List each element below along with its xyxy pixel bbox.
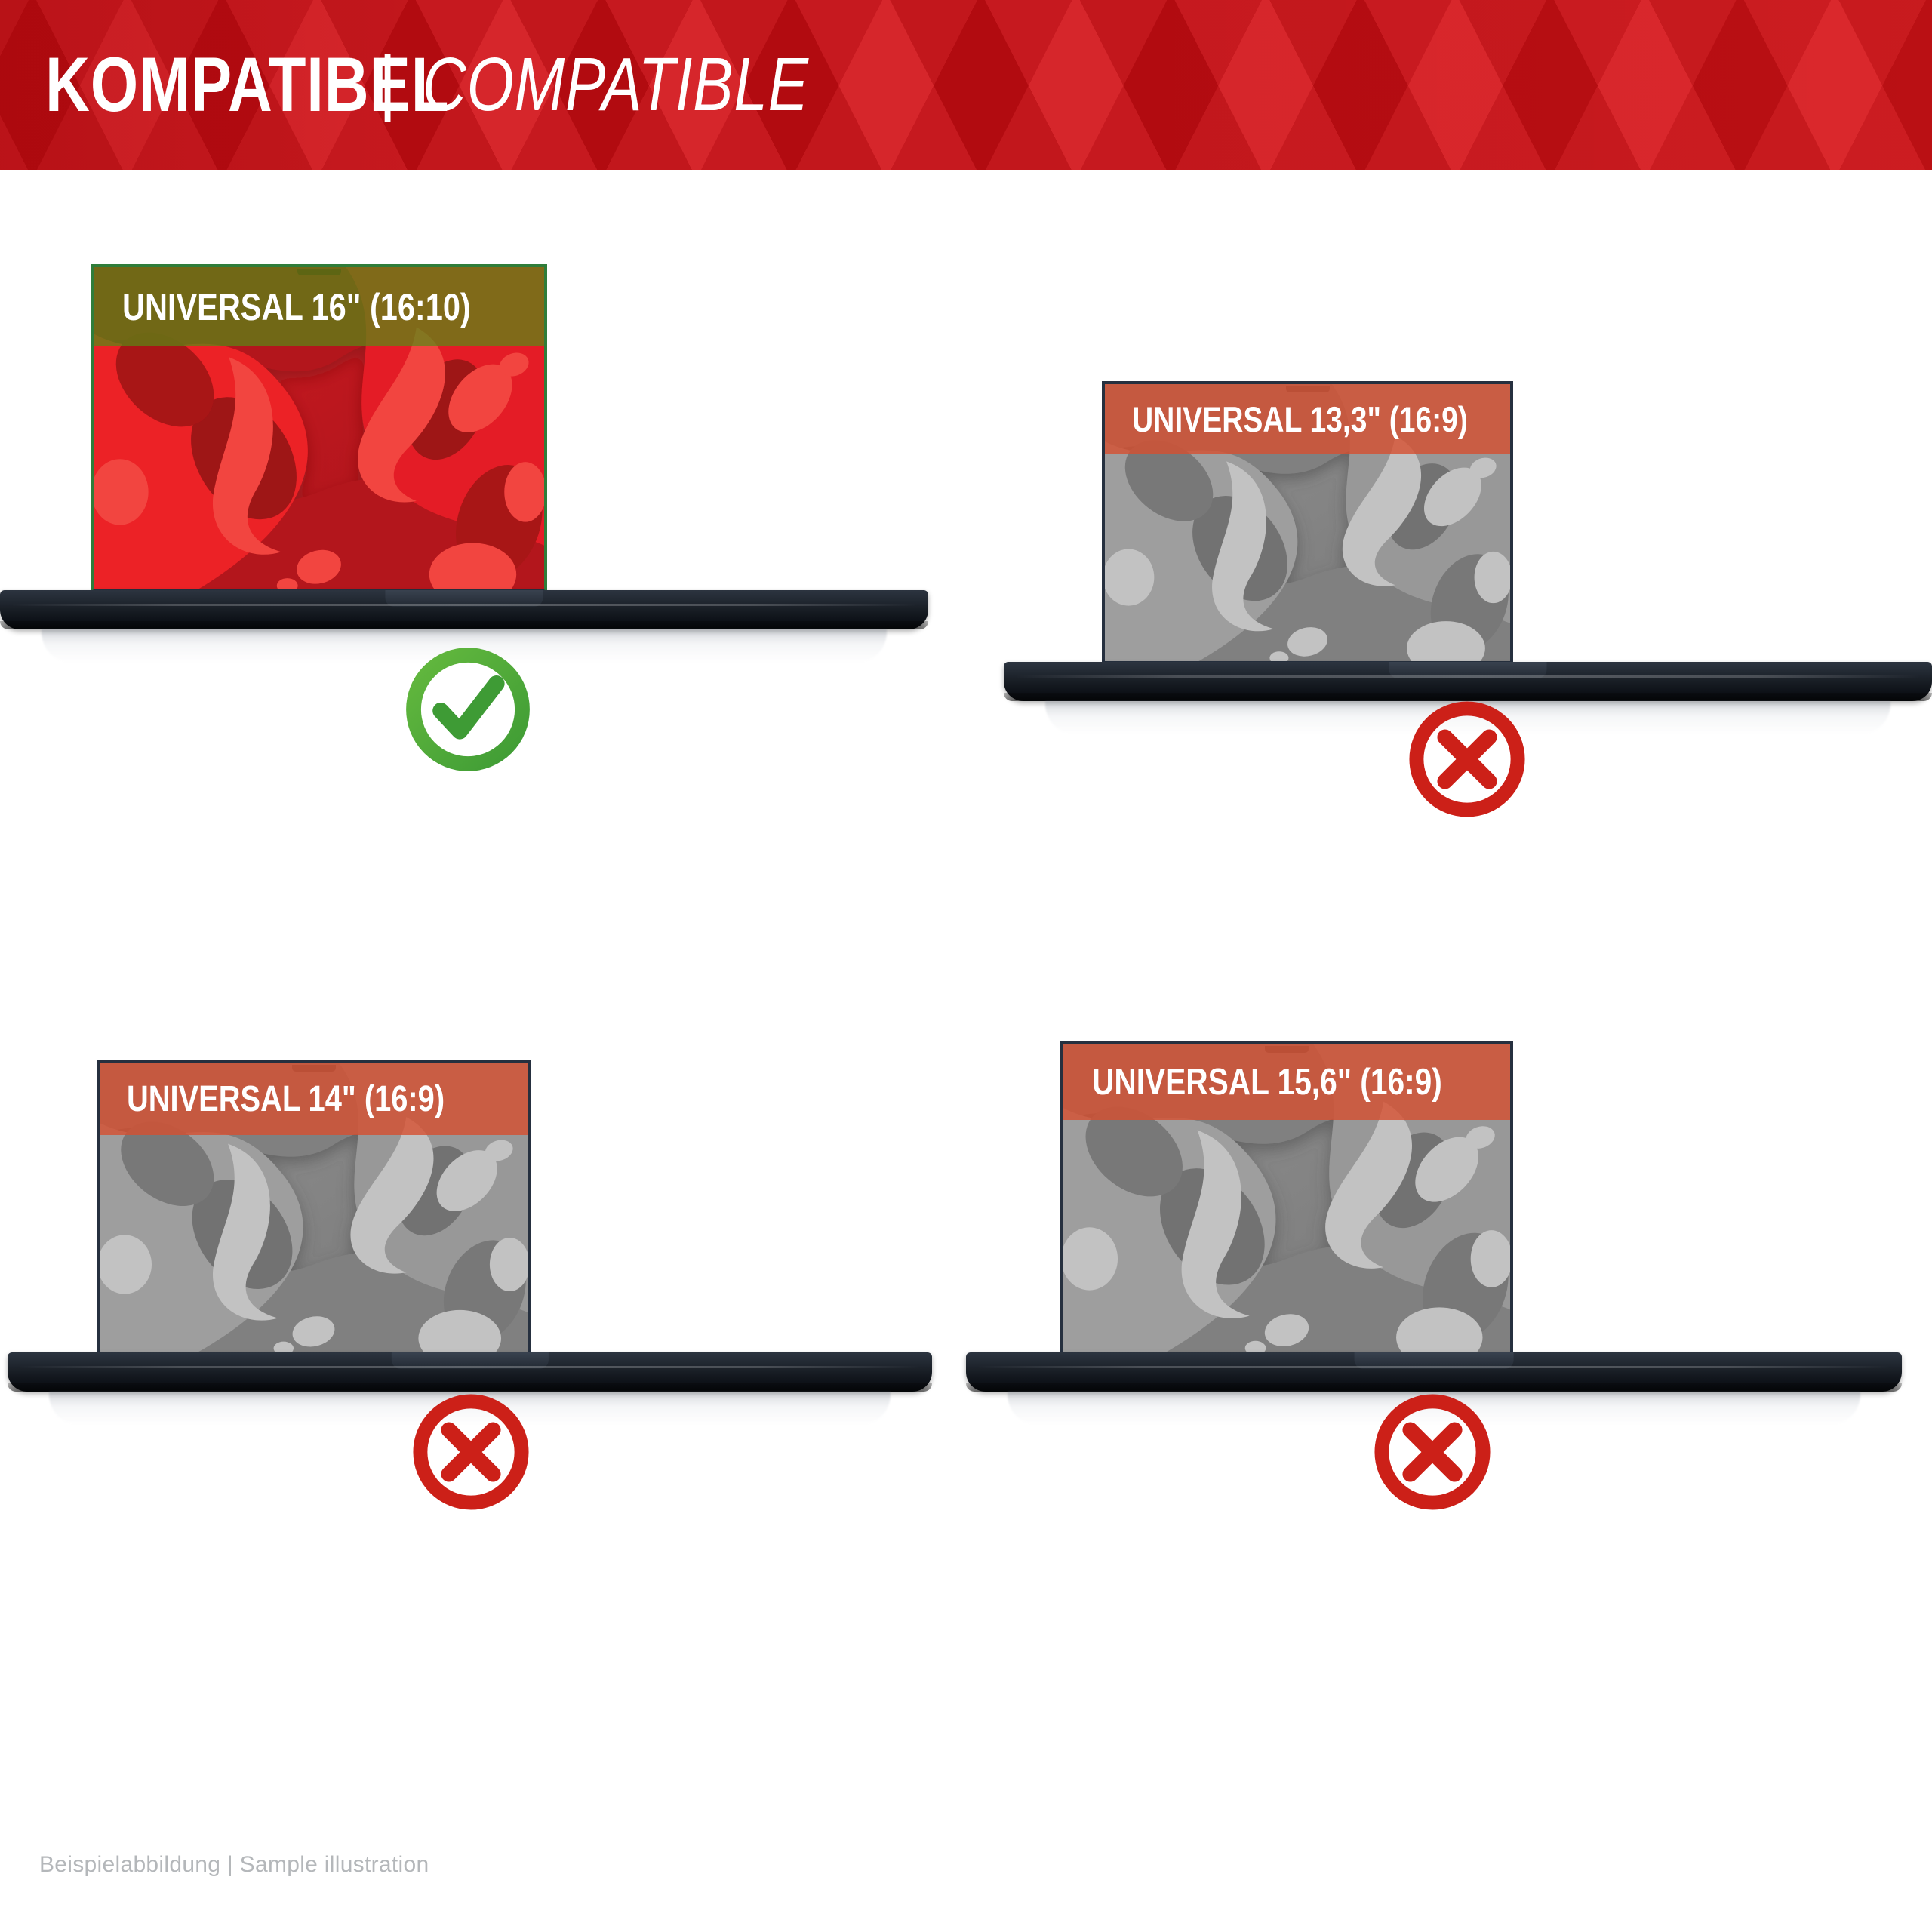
laptop-screen-16: UNIVERSAL 16" (16:10) — [91, 264, 547, 592]
base-highlight — [19, 1366, 921, 1368]
laptop-screen-13: UNIVERSAL 13,3" (16:9) — [1102, 381, 1513, 664]
laptop-compatibility-grid: UNIVERSAL 16" (16:10) — [0, 170, 1932, 1849]
status-badge-15 — [1367, 1387, 1497, 1517]
screen-label-band-13: UNIVERSAL 13,3" (16:9) — [1105, 384, 1510, 454]
laptop-base-16 — [0, 590, 928, 629]
laptop-label-16: UNIVERSAL 16" (16:10) — [122, 285, 471, 329]
laptop-base-14 — [8, 1352, 932, 1392]
screen-label-band-15: UNIVERSAL 15,6" (16:9) — [1063, 1044, 1510, 1120]
status-badge-14 — [406, 1387, 536, 1517]
laptop-label-15: UNIVERSAL 15,6" (16:9) — [1092, 1061, 1442, 1103]
status-badge-16 — [400, 641, 536, 777]
laptop-label-13: UNIVERSAL 13,3" (16:9) — [1132, 398, 1468, 440]
sample-illustration-note: Beispielabbildung | Sample illustration — [39, 1852, 429, 1878]
screen-label-band-16: UNIVERSAL 16" (16:10) — [94, 267, 544, 346]
laptop-base-15 — [966, 1352, 1902, 1392]
page-header-banner: KOMPATIBEL | COMPATIBLE — [0, 0, 1932, 170]
header-title-separator: | — [378, 41, 397, 124]
status-badge-13 — [1402, 694, 1532, 824]
laptop-screen-15: UNIVERSAL 15,6" (16:9) — [1060, 1041, 1513, 1355]
laptop-label-14: UNIVERSAL 14" (16:9) — [127, 1078, 445, 1120]
base-highlight — [11, 604, 918, 606]
header-title-group: KOMPATIBEL | COMPATIBLE — [45, 0, 906, 170]
laptop-screen-14: UNIVERSAL 14" (16:9) — [97, 1060, 531, 1355]
laptop-card-15: UNIVERSAL 15,6" (16:9) — [966, 981, 1932, 1857]
screen-label-band-14: UNIVERSAL 14" (16:9) — [100, 1063, 528, 1135]
header-title-english: COMPATIBLE — [423, 42, 809, 128]
base-lip — [0, 621, 928, 629]
laptop-card-14: UNIVERSAL 14" (16:9) — [0, 981, 966, 1857]
base-highlight — [1015, 675, 1921, 678]
base-highlight — [977, 1366, 1890, 1368]
